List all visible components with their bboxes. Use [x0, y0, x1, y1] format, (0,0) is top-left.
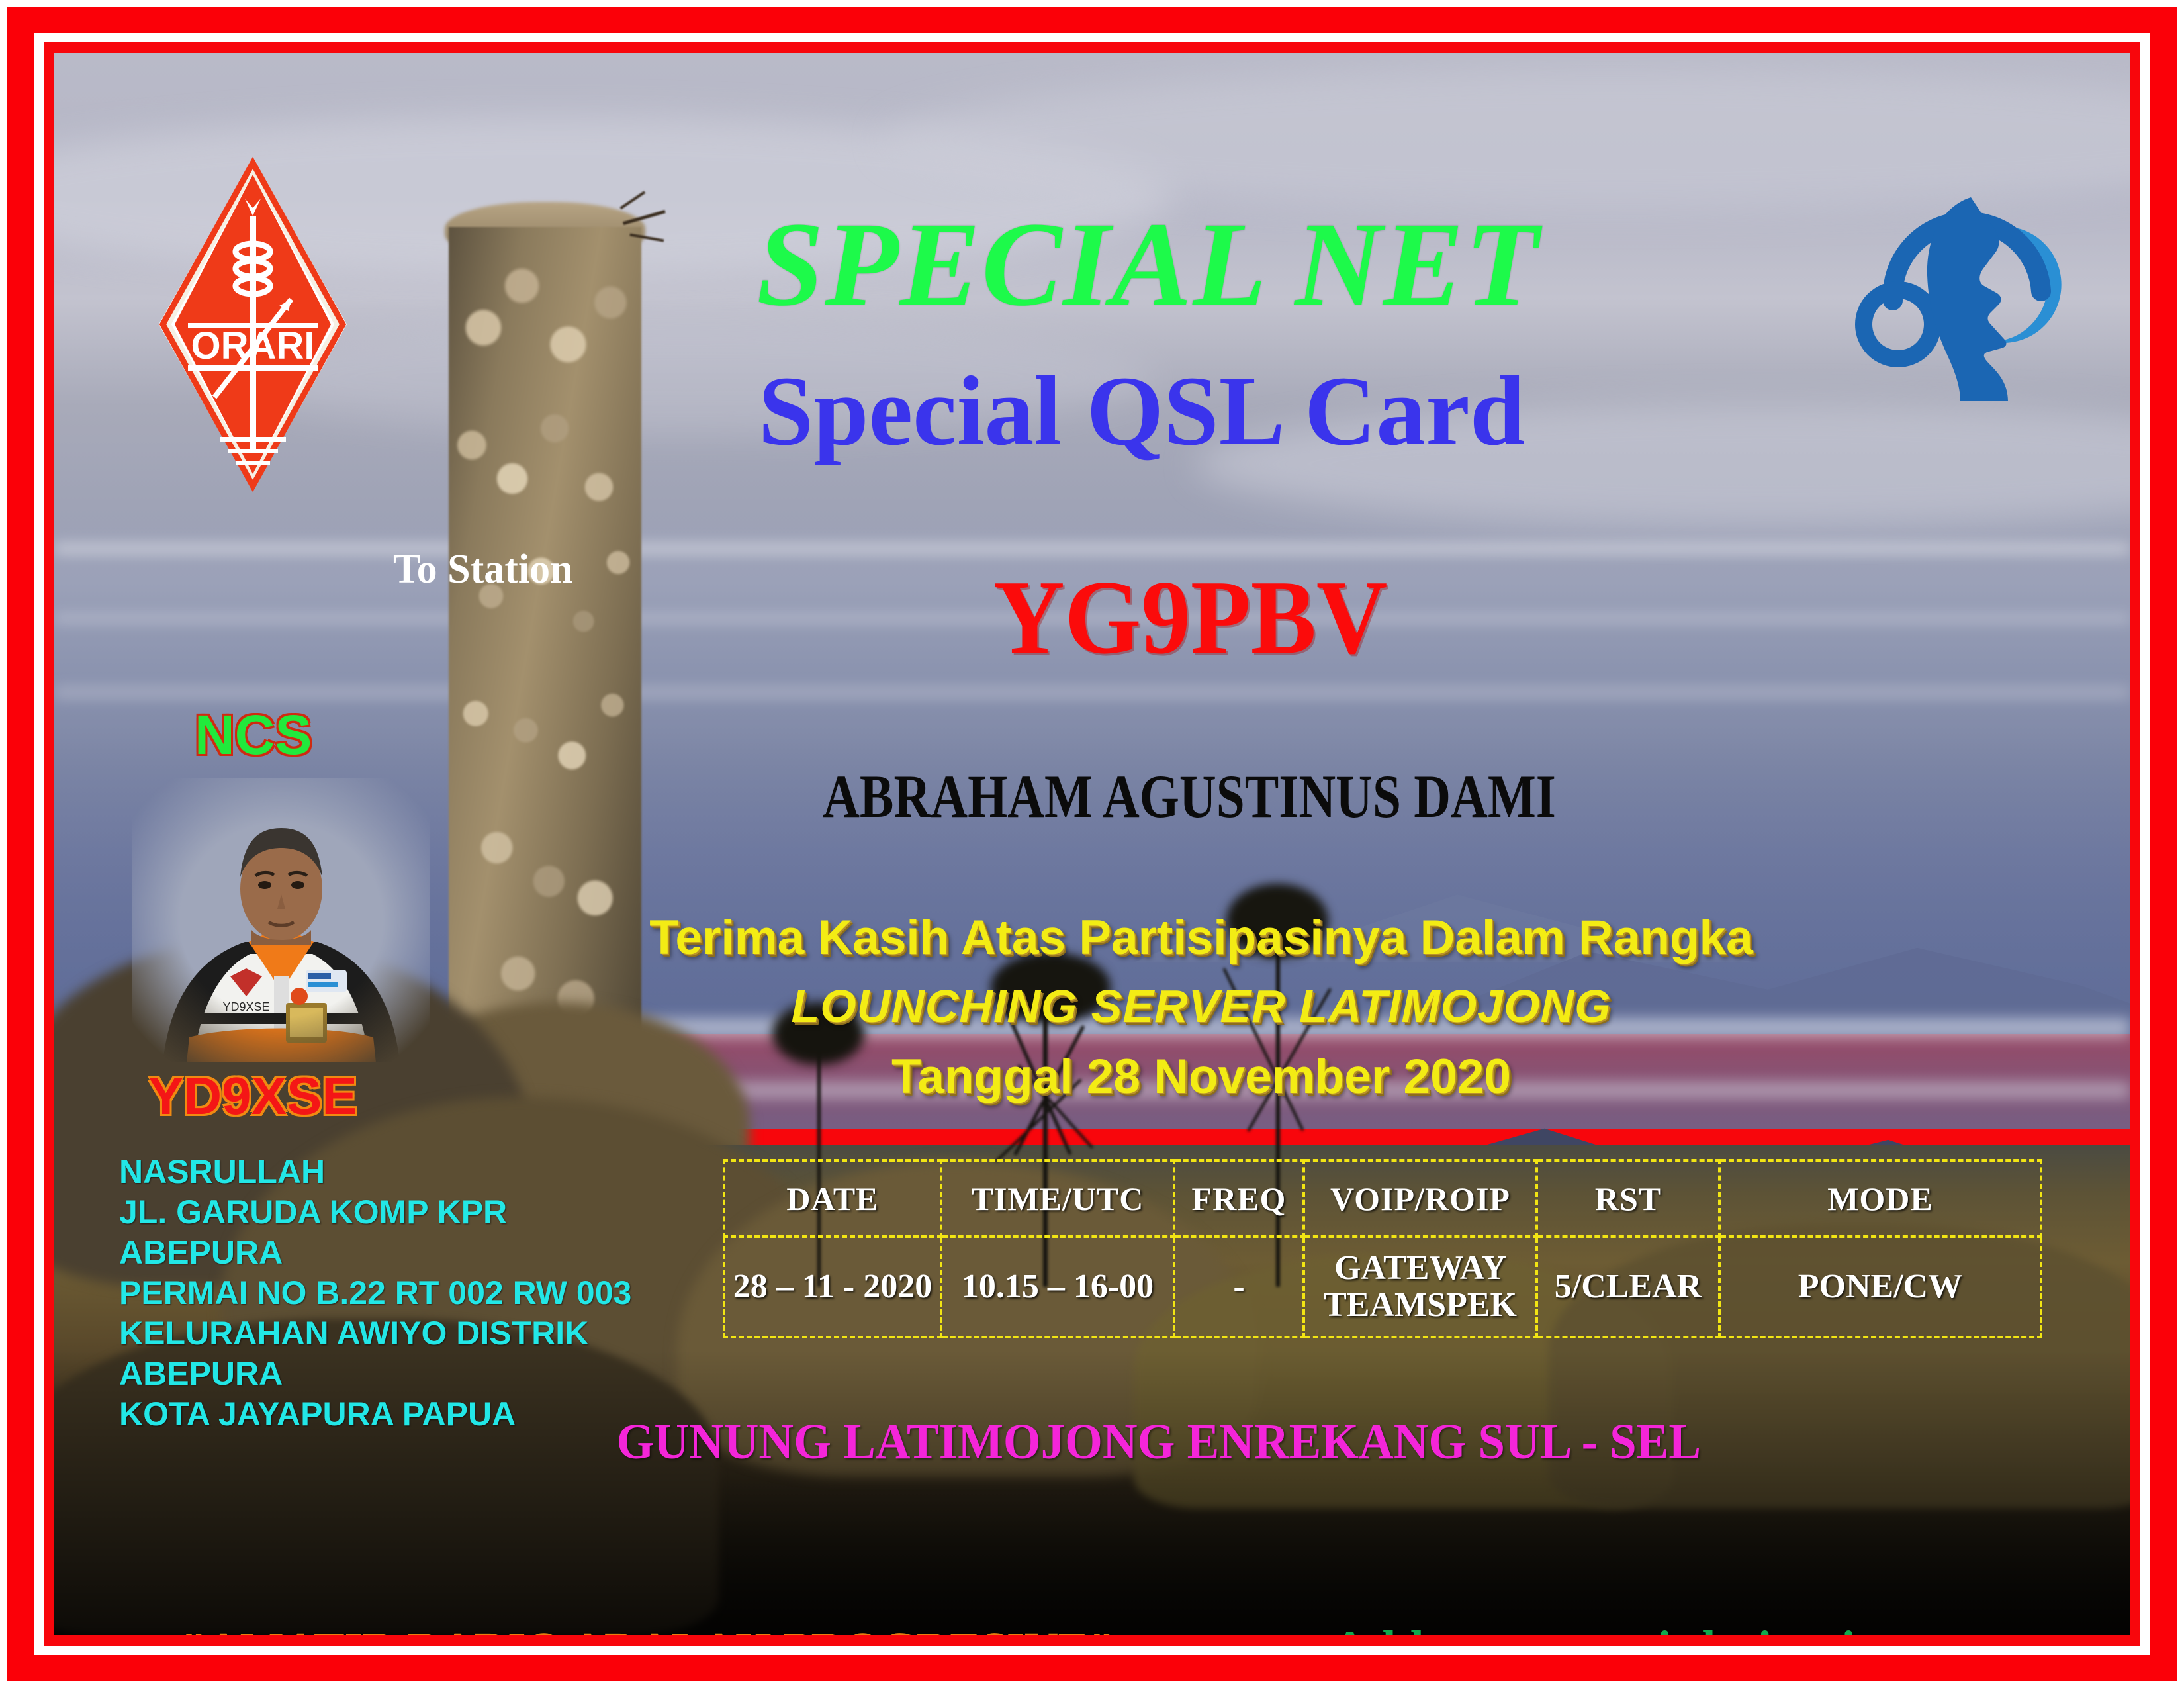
column-header-freq: FREQ	[1174, 1160, 1304, 1237]
address-line: ABEPURA	[119, 1354, 631, 1394]
cell-freq: -	[1174, 1237, 1304, 1337]
address-line: ABEPURA	[119, 1233, 631, 1273]
cell-voip-line1: GATEWAY	[1334, 1249, 1506, 1287]
cell-voip: GATEWAY TEAMSPEK	[1304, 1237, 1537, 1337]
page-title: SPECIAL NET	[54, 195, 2130, 334]
location-caption: GUNUNG LATIMOJONG ENREKANG SUL - SEL	[96, 1413, 2089, 1471]
mailing-address: NASRULLAH JL. GARUDA KOMP KPR ABEPURA PE…	[119, 1152, 631, 1434]
event-line-3: Tanggal 28 November 2020	[54, 1049, 2130, 1104]
haze-streak	[54, 543, 2130, 554]
footer-slogan: "AMATIR RADIO ADALAH PROGRESIVE"	[181, 1622, 1115, 1635]
qsl-card: ORARI	[0, 0, 2184, 1688]
event-line-2: LOUNCHING SERVER LATIMOJONG	[54, 980, 2130, 1033]
column-header-rst: RST	[1537, 1160, 1719, 1237]
table-header-row: DATE TIME/UTC FREQ VOIP/ROIP RST MODE	[724, 1160, 2041, 1237]
page-subtitle: Special QSL Card	[54, 354, 2130, 468]
footer-web-address: Address : amatir.latimojong.com	[1332, 1620, 2036, 1635]
event-line-1: Terima Kasih Atas Partisipasinya Dalam R…	[54, 910, 2130, 965]
table-row: 28 – 11 - 2020 10.15 – 16-00 - GATEWAY T…	[724, 1237, 2041, 1337]
cell-mode: PONE/CW	[1719, 1237, 2041, 1337]
cell-time: 10.15 – 16-00	[941, 1237, 1174, 1337]
background-photograph: ORARI	[54, 53, 2130, 1635]
address-line: NASRULLAH	[119, 1152, 631, 1192]
cell-date: 28 – 11 - 2020	[724, 1237, 941, 1337]
qso-log-table: DATE TIME/UTC FREQ VOIP/ROIP RST MODE 28…	[723, 1159, 2042, 1338]
ncs-callsign: YD9XSE	[148, 1066, 357, 1127]
haze-streak	[54, 686, 2130, 699]
column-header-time: TIME/UTC	[941, 1160, 1174, 1237]
operator-name: ABRAHAM AGUSTINUS DAMI	[220, 761, 1964, 831]
column-header-date: DATE	[724, 1160, 941, 1237]
cell-rst: 5/CLEAR	[1537, 1237, 1719, 1337]
cell-voip-line2: TEAMSPEK	[1324, 1286, 1517, 1324]
address-line: PERMAI NO B.22 RT 002 RW 003	[119, 1273, 631, 1313]
address-line: KELURAHAN AWIYO DISTRIK	[119, 1313, 631, 1354]
station-callsign: YG9PBV	[127, 556, 2057, 679]
ncs-label: NCS	[195, 703, 312, 767]
column-header-voip: VOIP/ROIP	[1304, 1160, 1537, 1237]
column-header-mode: MODE	[1719, 1160, 2041, 1237]
address-line: JL. GARUDA KOMP KPR	[119, 1192, 631, 1233]
